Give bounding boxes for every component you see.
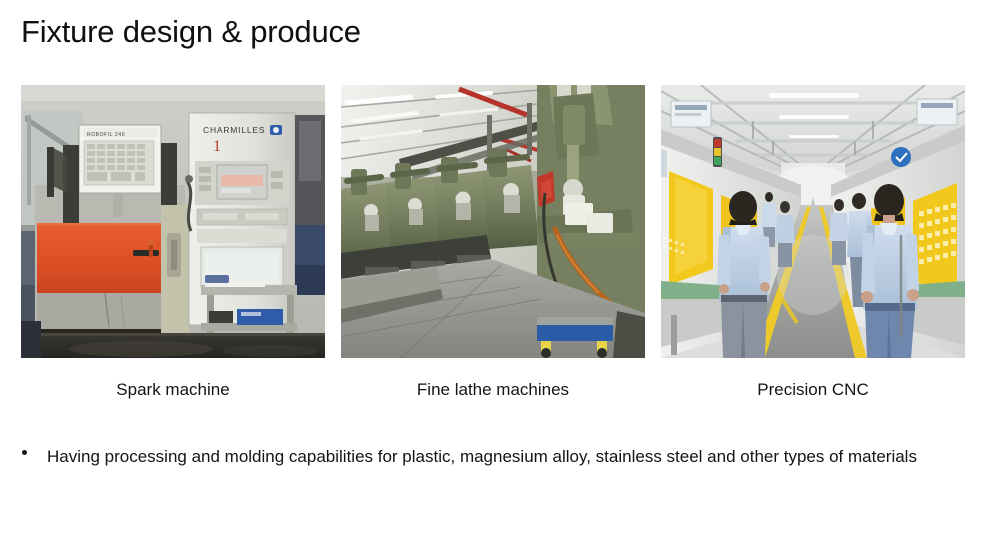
caption-fine-lathe-machines: Fine lathe machines xyxy=(341,379,645,401)
precision-cnc-photo xyxy=(661,85,965,358)
svg-text:CHARMILLES: CHARMILLES xyxy=(203,125,265,135)
bullet-list: Having processing and molding capabiliti… xyxy=(18,440,958,473)
bullet-dot-icon xyxy=(22,450,27,455)
fine-lathe-machines-photo xyxy=(341,85,645,358)
bullet-text: Having processing and molding capabiliti… xyxy=(47,440,958,473)
svg-text:1: 1 xyxy=(213,138,221,155)
precision-cnc-illustration xyxy=(661,85,965,358)
fine-lathe-machines-illustration xyxy=(341,85,645,358)
caption-precision-cnc: Precision CNC xyxy=(661,379,965,401)
spark-machine-photo: ROBOFIL 240 xyxy=(21,85,325,358)
spark-machine-illustration: ROBOFIL 240 xyxy=(21,85,325,358)
slide-canvas: Fixture design & produce xyxy=(0,0,994,558)
list-item: Having processing and molding capabiliti… xyxy=(18,440,958,473)
caption-spark-machine: Spark machine xyxy=(21,379,325,401)
page-title: Fixture design & produce xyxy=(21,14,361,50)
svg-text:ROBOFIL 240: ROBOFIL 240 xyxy=(87,132,125,138)
